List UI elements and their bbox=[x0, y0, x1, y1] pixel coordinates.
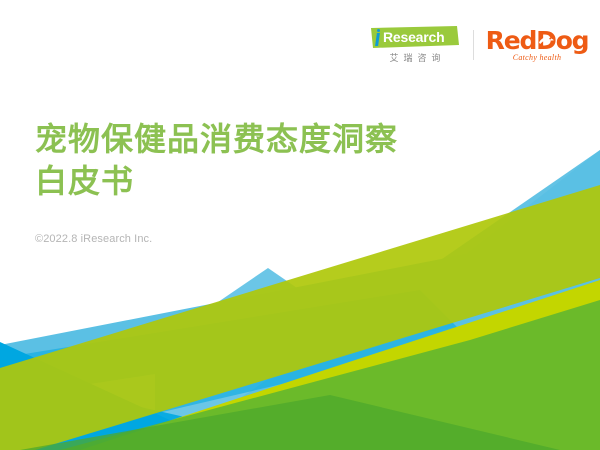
art-shape-green-mid bbox=[60, 300, 600, 450]
iresearch-wordmark: Research bbox=[371, 26, 459, 48]
logo-bar: Research 艾瑞咨询 RedDog Catchy health bbox=[371, 26, 586, 64]
background-artwork bbox=[0, 0, 600, 450]
reddog-logo: RedDog Catchy health bbox=[488, 28, 586, 62]
art-shape-bright-blue-left bbox=[0, 342, 235, 450]
art-shape-blue-band bbox=[0, 228, 600, 398]
iresearch-chinese-name: 艾瑞咨询 bbox=[371, 51, 459, 64]
title-line-1: 宠物保健品消费态度洞察 bbox=[35, 118, 398, 160]
art-shape-blue-peak bbox=[155, 268, 380, 450]
art-shape-bright-blue-band bbox=[0, 290, 470, 450]
iresearch-initial-i bbox=[375, 29, 380, 45]
title-line-2: 白皮书 bbox=[35, 160, 398, 202]
logo-divider bbox=[473, 30, 474, 60]
art-shape-lime-main bbox=[80, 280, 600, 450]
page-title: 宠物保健品消费态度洞察 白皮书 bbox=[35, 118, 398, 202]
iresearch-logo: Research 艾瑞咨询 bbox=[371, 26, 459, 64]
cover-page: Research 艾瑞咨询 RedDog Catchy health 宠物保健品… bbox=[0, 0, 600, 450]
copyright-text: ©2022.8 iResearch Inc. bbox=[35, 233, 152, 245]
reddog-word: RedDog bbox=[486, 28, 589, 54]
iresearch-word: Research bbox=[383, 29, 444, 45]
art-shape-olive-band bbox=[0, 185, 600, 450]
art-shape-bright-blue-mid bbox=[0, 375, 330, 450]
art-shape-blue-band-upper bbox=[420, 150, 600, 290]
art-shape-lime-upper bbox=[240, 185, 600, 450]
art-shape-green-deep bbox=[20, 395, 560, 450]
